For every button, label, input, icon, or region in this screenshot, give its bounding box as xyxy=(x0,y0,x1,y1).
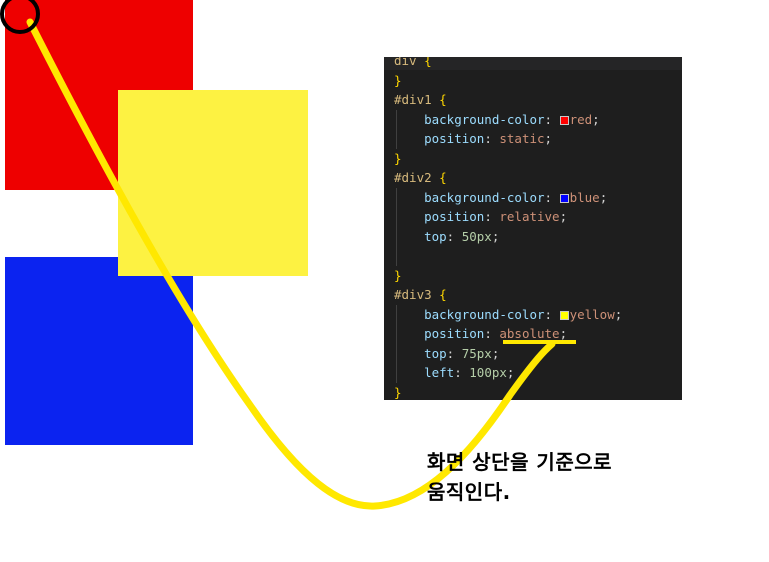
css-selector: #div3 xyxy=(394,287,432,302)
css-value: static xyxy=(499,131,544,146)
css-value: 75px xyxy=(462,346,492,361)
color-swatch[interactable] xyxy=(560,311,569,320)
code-line[interactable]: left: 100px; xyxy=(384,363,682,383)
demo-box-div2 xyxy=(5,257,193,445)
css-selector: #div1 xyxy=(394,92,432,107)
css-code-panel[interactable]: div {}#div1 {background-color: red;posit… xyxy=(384,57,682,400)
code-line[interactable]: position: static; xyxy=(384,129,682,149)
css-property: top xyxy=(424,229,447,244)
code-line[interactable]: position: absolute; xyxy=(384,324,682,344)
demo-box-div3 xyxy=(118,90,308,276)
css-value: 100px xyxy=(469,365,507,380)
open-brace: { xyxy=(439,170,447,185)
css-property: position xyxy=(424,209,484,224)
css-value: absolute xyxy=(499,326,559,341)
css-property: left xyxy=(424,365,454,380)
indent-guide xyxy=(396,188,397,208)
caption-line-2: 움직인다. xyxy=(427,477,727,507)
open-brace: { xyxy=(439,92,447,107)
code-line[interactable]: } xyxy=(384,149,682,169)
css-value: 50px xyxy=(462,229,492,244)
code-line[interactable]: } xyxy=(384,383,682,401)
code-line[interactable]: #div1 { xyxy=(384,90,682,110)
indent-guide xyxy=(396,246,397,266)
code-line[interactable]: top: 75px; xyxy=(384,344,682,364)
css-value: yellow xyxy=(570,307,615,322)
code-line[interactable] xyxy=(384,246,682,266)
close-brace: } xyxy=(394,385,402,400)
css-value: blue xyxy=(570,190,600,205)
code-line[interactable]: position: relative; xyxy=(384,207,682,227)
code-line[interactable]: background-color: yellow; xyxy=(384,305,682,325)
css-selector: div xyxy=(394,57,417,68)
code-line[interactable]: background-color: red; xyxy=(384,110,682,130)
indent-guide xyxy=(396,110,397,130)
color-swatch[interactable] xyxy=(560,194,569,203)
indent-guide xyxy=(396,324,397,344)
code-line[interactable]: #div3 { xyxy=(384,285,682,305)
indent-guide xyxy=(396,344,397,364)
css-value: red xyxy=(570,112,593,127)
indent-guide xyxy=(396,305,397,325)
css-property: position xyxy=(424,131,484,146)
indent-guide xyxy=(396,363,397,383)
code-line[interactable]: } xyxy=(384,71,682,91)
css-property: background-color xyxy=(424,190,544,205)
code-line[interactable]: } xyxy=(384,266,682,286)
caption-line-1: 화면 상단을 기준으로 xyxy=(427,447,727,477)
indent-guide xyxy=(396,227,397,247)
code-line[interactable]: div { xyxy=(384,57,682,71)
css-property: top xyxy=(424,346,447,361)
caption-text: 화면 상단을 기준으로 움직인다. xyxy=(427,447,727,507)
close-brace: } xyxy=(394,151,402,166)
open-brace: { xyxy=(424,57,432,68)
css-property: background-color xyxy=(424,307,544,322)
css-property: background-color xyxy=(424,112,544,127)
indent-guide xyxy=(396,207,397,227)
code-line[interactable]: top: 50px; xyxy=(384,227,682,247)
code-lines-container[interactable]: div {}#div1 {background-color: red;posit… xyxy=(384,57,682,400)
code-line[interactable]: background-color: blue; xyxy=(384,188,682,208)
color-swatch[interactable] xyxy=(560,116,569,125)
close-brace: } xyxy=(394,268,402,283)
indent-guide xyxy=(396,129,397,149)
close-brace: } xyxy=(394,73,402,88)
css-value: relative xyxy=(499,209,559,224)
css-property: position xyxy=(424,326,484,341)
css-selector: #div2 xyxy=(394,170,432,185)
open-brace: { xyxy=(439,287,447,302)
code-line[interactable]: #div2 { xyxy=(384,168,682,188)
